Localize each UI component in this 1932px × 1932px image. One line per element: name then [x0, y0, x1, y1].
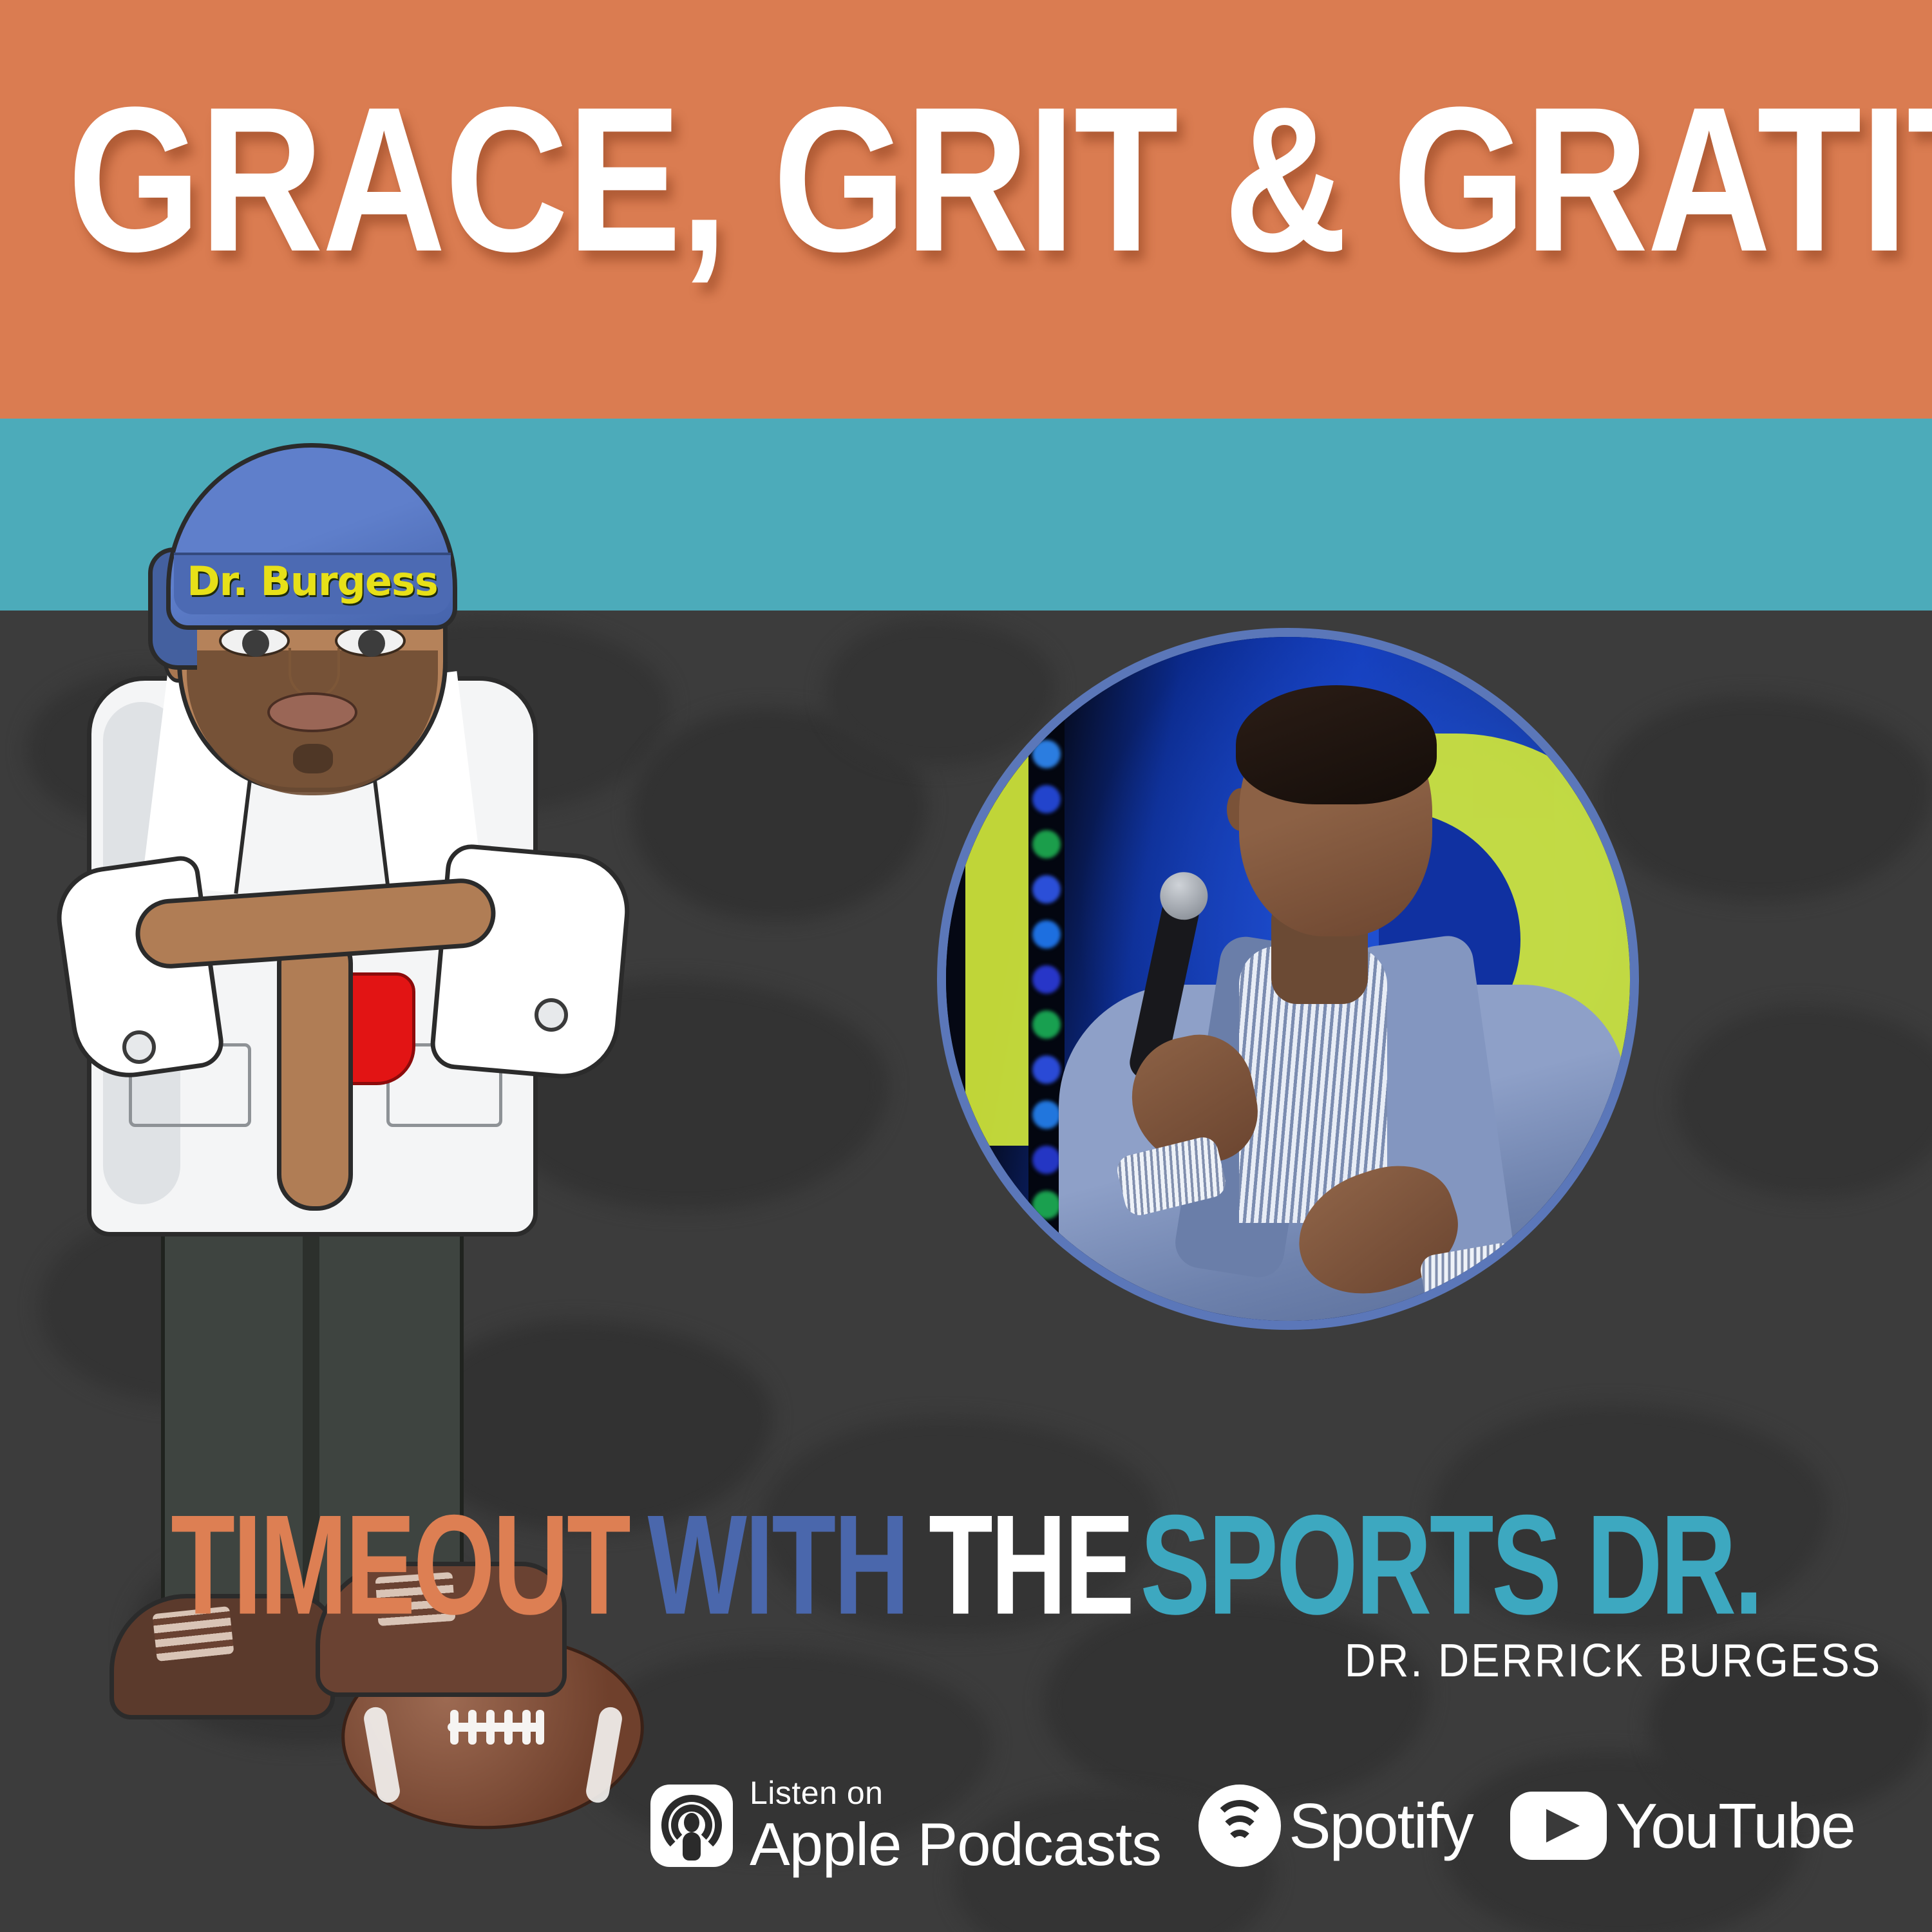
lips: [267, 692, 357, 732]
apple-podcasts-badge[interactable]: Listen on Apple Podcasts: [650, 1777, 1161, 1875]
logotype-word-timeout: TIMEOUT: [171, 1494, 629, 1636]
host-name: DR. DERRICK BURGESS: [1345, 1634, 1882, 1687]
cuff-button-right: [535, 998, 568, 1032]
soul-patch: [293, 744, 333, 773]
spotify-label: Spotify: [1289, 1794, 1473, 1857]
logotype-word-the: THE: [929, 1494, 1132, 1636]
nose: [289, 648, 340, 698]
apple-podcasts-listen-on-label: Listen on: [750, 1777, 1161, 1809]
timeout-signal-vertical-arm: [277, 927, 353, 1211]
logotype-word-sports-dr: SPORTS DR.: [1140, 1494, 1761, 1636]
page-title: GRACE, GRIT & GRATITUDE: [68, 76, 1864, 282]
youtube-badge[interactable]: YouTube: [1510, 1792, 1855, 1860]
pupil-left: [242, 630, 269, 657]
football-laces: [448, 1723, 544, 1732]
logotype-word-with: WITH: [648, 1494, 908, 1636]
apple-podcasts-icon: [650, 1785, 733, 1867]
apple-podcasts-label: Apple Podcasts: [750, 1814, 1161, 1875]
spotify-icon: [1198, 1785, 1281, 1867]
youtube-icon: [1510, 1792, 1607, 1860]
guest-photo: [937, 628, 1639, 1330]
cap-label: Dr. Burgess: [173, 558, 452, 605]
platform-badges: Listen on Apple Podcasts Spotify YouTube: [650, 1761, 1855, 1890]
cuff-button-left: [122, 1030, 156, 1064]
guest-hair: [1236, 685, 1437, 804]
podcast-cover-art: GRACE, GRIT & GRATITUDE: [0, 0, 1932, 1932]
spotify-badge[interactable]: Spotify: [1198, 1785, 1473, 1867]
pupil-right: [358, 630, 385, 657]
show-logotype: TIMEOUTWITHTHESPORTS DR.: [135, 1494, 1797, 1636]
youtube-label: YouTube: [1616, 1794, 1855, 1857]
